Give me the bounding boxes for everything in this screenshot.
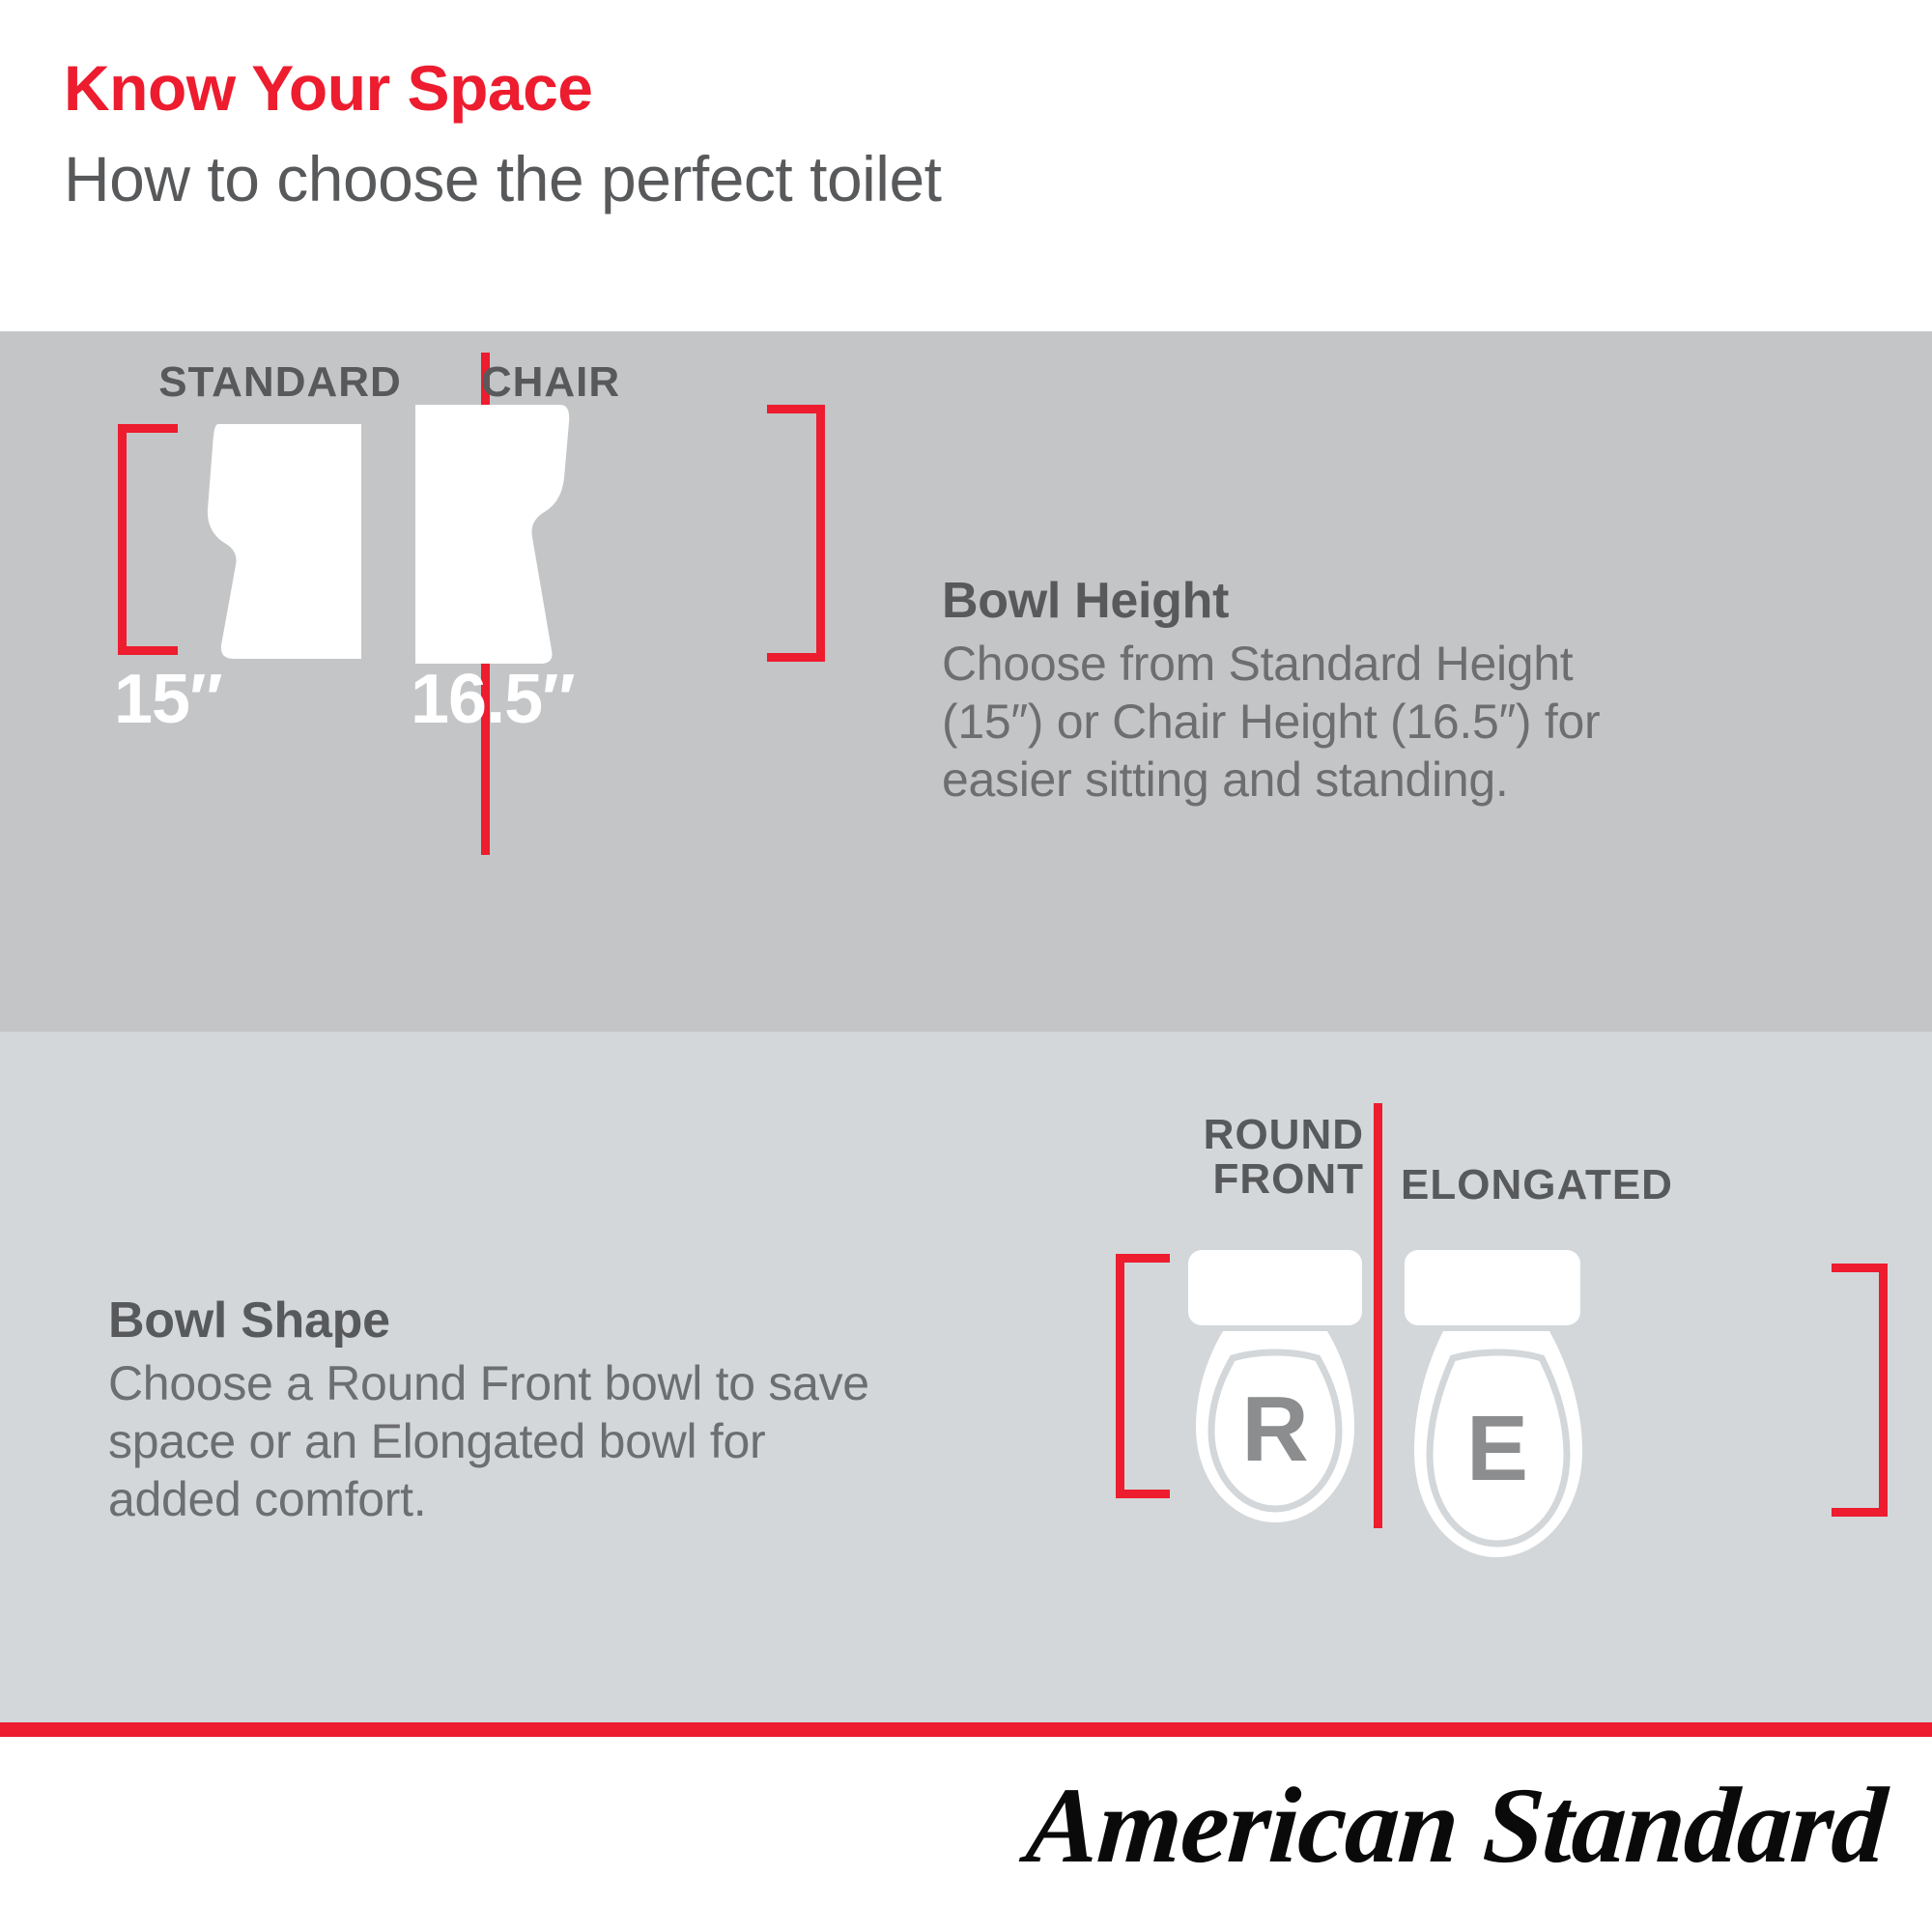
round-front-label-line2: FRONT [1212,1155,1364,1203]
round-front-bracket-icon [1116,1254,1170,1498]
chair-height-label: CHAIR [415,358,686,407]
bowl-height-body: Choose from Standard Height (15″) or Cha… [942,635,1676,809]
elongated-mark: E [1466,1397,1528,1500]
standard-height-label: STANDARD [106,358,454,407]
bowl-height-diagram: STANDARD CHAIR 15″ 16.5″ [97,331,860,1032]
bowl-shape-body: Choose a Round Front bowl to save space … [108,1354,881,1528]
shape-divider-line [1374,1103,1382,1528]
page-footer: American Standard [0,1737,1932,1932]
page-title: Know Your Space [64,56,1932,120]
toilet-top-view-icon: E [1401,1250,1599,1569]
bowl-shape-diagram: ROUND FRONT ELONGATED R E [1111,1032,1913,1722]
toilet-top-view-icon: R [1182,1250,1368,1540]
round-front-bowl-icon: R [1182,1250,1368,1540]
chair-height-value: 16.5″ [411,660,575,739]
elongated-bracket-icon [1832,1264,1888,1517]
toilet-profile-icon [176,424,361,659]
round-front-label-line1: ROUND [1204,1111,1364,1158]
bowl-height-text-block: Bowl Height Choose from Standard Height … [942,573,1676,809]
toilet-profile-icon [415,405,601,664]
page-subtitle: How to choose the perfect toilet [64,147,1932,211]
bowl-shape-text-block: Bowl Shape Choose a Round Front bowl to … [108,1293,881,1528]
bowl-shape-title: Bowl Shape [108,1293,881,1349]
standard-height-bracket-icon [118,424,178,655]
elongated-bowl-icon: E [1401,1250,1599,1569]
american-standard-logo: American Standard [1023,1764,1890,1889]
page-header: Know Your Space How to choose the perfec… [0,0,1932,331]
bowl-height-title: Bowl Height [942,573,1676,629]
standard-height-value: 15″ [114,660,222,739]
elongated-label: ELONGATED [1401,1161,1673,1209]
round-front-label: ROUND FRONT [1111,1113,1364,1202]
bowl-height-section: STANDARD CHAIR 15″ 16.5″ Bowl Height Cho… [0,331,1932,1032]
chair-toilet-silhouette-icon [415,405,601,664]
standard-toilet-silhouette-icon [176,424,361,659]
round-front-mark: R [1241,1378,1308,1481]
bowl-shape-section: Bowl Shape Choose a Round Front bowl to … [0,1032,1932,1722]
chair-height-bracket-icon [767,405,825,662]
footer-divider [0,1722,1932,1737]
